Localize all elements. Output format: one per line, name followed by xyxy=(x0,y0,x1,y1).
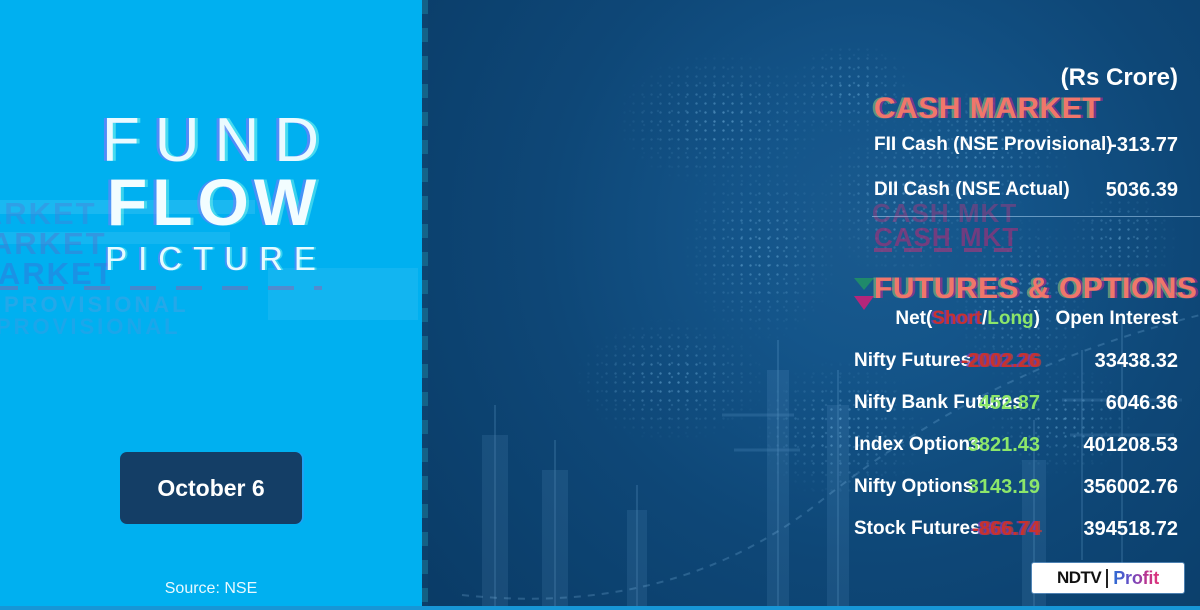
value-net-nifty-options: 3143.19 xyxy=(968,476,1040,499)
column-header-open-interest: Open Interest xyxy=(1056,308,1178,330)
value-net-index-options: 3821.43 xyxy=(968,434,1040,457)
row-label-index-options: Index Options xyxy=(854,434,981,456)
column-header-net: Net(Short/Long) xyxy=(895,308,1040,330)
section-divider xyxy=(872,216,1200,217)
value-oi-index-options: 401208.53 xyxy=(1083,434,1178,457)
value-dii-cash: 5036.39 xyxy=(1106,179,1178,202)
value-net-nifty-futures: -2002.26 xyxy=(961,350,1040,373)
data-panel: (Rs Crore) CASH MARKET FII Cash (NSE Pro… xyxy=(422,0,1200,610)
source-label: Source: NSE xyxy=(0,580,422,598)
value-net-nifty-bank-futures: 452.87 xyxy=(979,392,1040,415)
logo-line-picture: PICTURE xyxy=(0,241,422,277)
value-oi-nifty-futures: 33438.32 xyxy=(1095,350,1178,373)
ghost-dash-line xyxy=(874,248,1014,252)
logo-line-fund: FUND xyxy=(0,108,422,173)
fund-flow-graphic: MARKET MARKET MARKET PROVISIONAL PROVISI… xyxy=(0,0,1200,610)
row-label-nifty-options: Nifty Options xyxy=(854,476,973,498)
fo-section-marker-icon xyxy=(853,276,875,316)
col-net-long: Long xyxy=(987,308,1033,329)
row-label-stock-futures: Stock Futures xyxy=(854,518,981,540)
section-title-cash-market: CASH MARKET xyxy=(874,92,1101,126)
col-net-prefix: Net( xyxy=(895,308,932,329)
brand-logo: FUND FLOW PICTURE xyxy=(0,108,422,277)
bottom-accent-bar xyxy=(0,606,1200,610)
panel-seam-glitch xyxy=(422,0,428,610)
ndtv-wordmark: NDTV xyxy=(1057,568,1101,588)
value-oi-stock-futures: 394518.72 xyxy=(1083,518,1178,541)
value-oi-nifty-bank-futures: 6046.36 xyxy=(1106,392,1178,415)
row-label-nifty-futures: Nifty Futures xyxy=(854,350,971,372)
profit-wordmark: Profit xyxy=(1113,568,1159,589)
value-fii-cash: -313.77 xyxy=(1110,134,1178,157)
ghost-text-provisional-2: PROVISIONAL xyxy=(0,314,181,340)
ndtv-profit-logo: NDTV Profit xyxy=(1032,563,1184,593)
section-title-futures-options: FUTURES & OPTIONS xyxy=(874,272,1198,306)
glitch-dash-line xyxy=(0,286,322,290)
value-oi-nifty-options: 356002.76 xyxy=(1083,476,1178,499)
value-net-stock-futures: -866.74 xyxy=(972,518,1040,541)
col-net-suffix: ) xyxy=(1034,308,1040,329)
date-badge: October 6 xyxy=(120,452,302,524)
logo-line-flow: FLOW xyxy=(0,169,422,235)
units-label: (Rs Crore) xyxy=(1061,64,1178,92)
row-label-fii-cash: FII Cash (NSE Provisional) xyxy=(874,134,1113,156)
col-net-short: Short xyxy=(932,308,982,329)
logo-divider xyxy=(1106,569,1108,588)
left-brand-panel: MARKET MARKET MARKET PROVISIONAL PROVISI… xyxy=(0,0,422,610)
